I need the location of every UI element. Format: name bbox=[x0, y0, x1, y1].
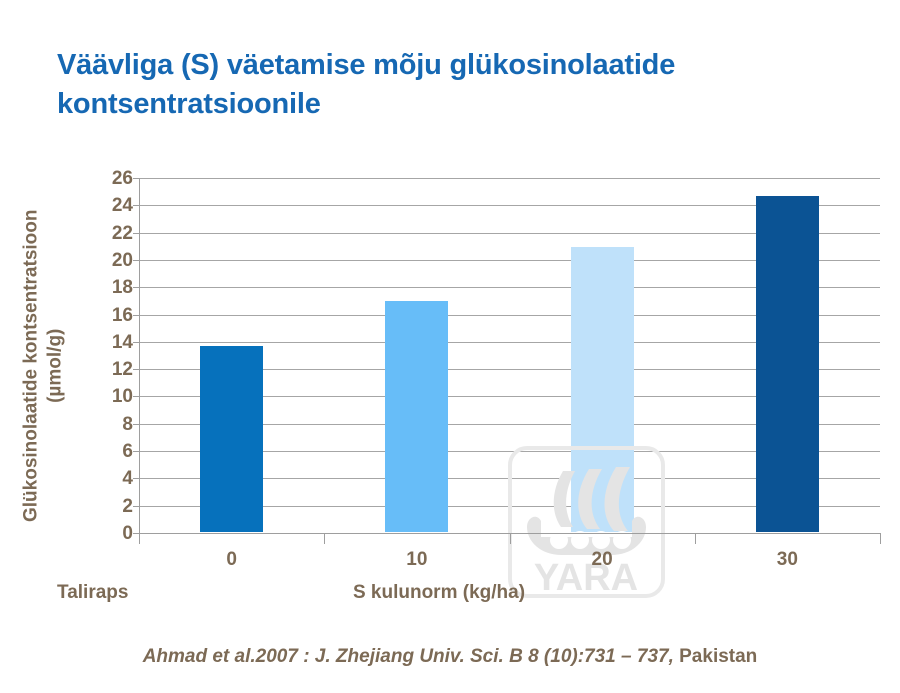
y-tick-label: 24 bbox=[93, 196, 133, 215]
x-tick-label: 0 bbox=[187, 550, 277, 569]
x-tick-label: 10 bbox=[372, 550, 462, 569]
x-tick-mark bbox=[139, 533, 140, 544]
y-tick-label: 6 bbox=[93, 442, 133, 461]
y-tick-label: 12 bbox=[93, 360, 133, 379]
bar-20 bbox=[571, 247, 634, 532]
x-axis-title: S kulunorm (kg/ha) bbox=[139, 582, 739, 604]
y-tick-label: 22 bbox=[93, 224, 133, 243]
citation-plain-part: Pakistan bbox=[674, 646, 757, 667]
x-tick-mark bbox=[695, 533, 696, 544]
y-tick-label: 16 bbox=[93, 306, 133, 325]
y-tick-label: 26 bbox=[93, 169, 133, 188]
y-tick-label: 2 bbox=[93, 497, 133, 516]
source-citation: Ahmad et al.2007 : J. Zhejiang Univ. Sci… bbox=[0, 646, 900, 668]
y-axis-line bbox=[139, 178, 140, 534]
y-tick-label: 20 bbox=[93, 251, 133, 270]
page-title: Väävliga (S) väetamise mõju glükosinolaa… bbox=[57, 46, 867, 124]
x-tick-label: 20 bbox=[557, 550, 647, 569]
gridline bbox=[139, 178, 880, 179]
y-tick-label: 10 bbox=[93, 387, 133, 406]
y-tick-label: 14 bbox=[93, 333, 133, 352]
x-tick-mark bbox=[324, 533, 325, 544]
series-note-taliraps: Taliraps bbox=[57, 582, 128, 604]
bar-chart: Glükosinolaatide kontsentratsioon (µmol/… bbox=[0, 150, 900, 610]
bar-10 bbox=[385, 301, 448, 532]
y-tick-label: 8 bbox=[93, 415, 133, 434]
y-axis-title-line2: (µmol/g) bbox=[43, 171, 67, 561]
y-axis-title-line1: Glükosinolaatide kontsentratsioon bbox=[19, 171, 43, 561]
y-tick-label: 18 bbox=[93, 278, 133, 297]
bar-30 bbox=[756, 196, 819, 532]
y-tick-label: 0 bbox=[93, 524, 133, 543]
bar-0 bbox=[200, 346, 263, 532]
citation-italic-part: Ahmad et al.2007 : J. Zhejiang Univ. Sci… bbox=[143, 646, 674, 667]
y-axis-title: Glükosinolaatide kontsentratsioon (µmol/… bbox=[19, 171, 67, 561]
x-tick-label: 30 bbox=[742, 550, 832, 569]
plot-area: 26242220181614121086420 YARA bbox=[139, 178, 880, 533]
x-tick-mark bbox=[510, 533, 511, 544]
y-tick-label: 4 bbox=[93, 469, 133, 488]
x-tick-mark bbox=[880, 533, 881, 544]
